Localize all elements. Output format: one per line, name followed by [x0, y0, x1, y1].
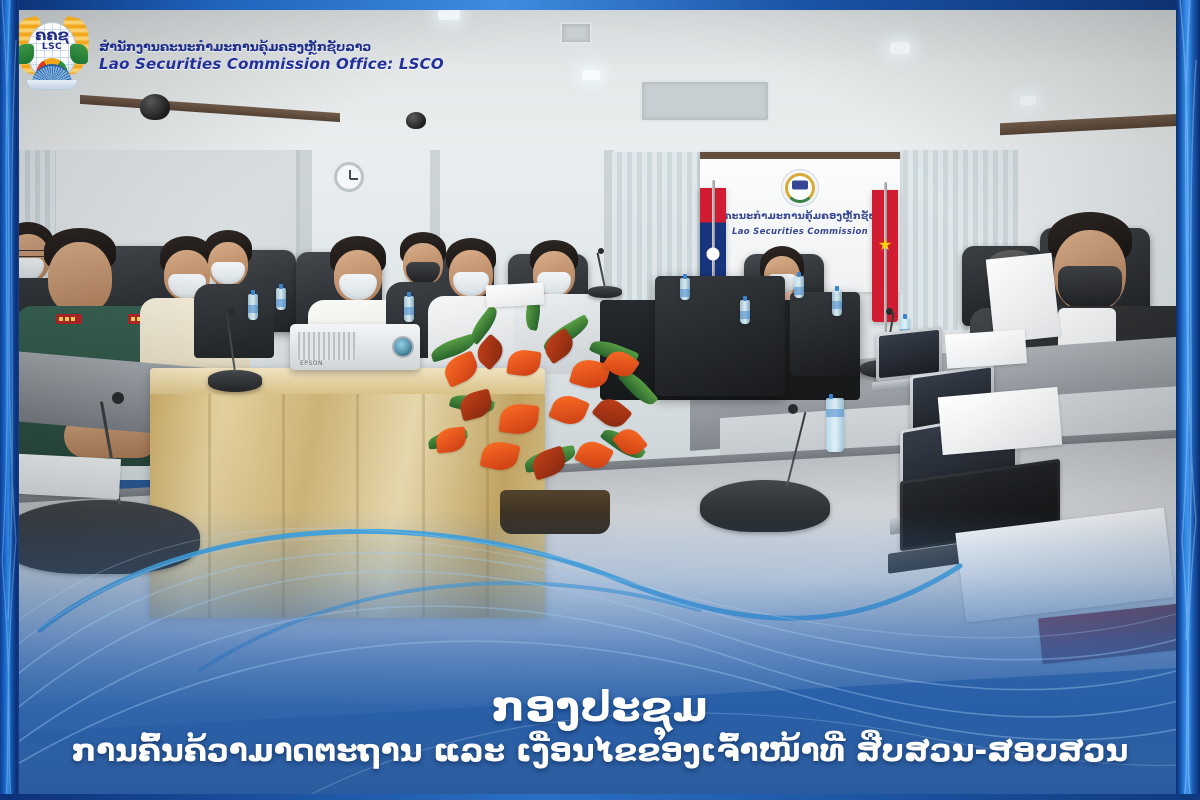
caption-subtitle: ການຄົ້ນຄ້ວາມາດຕະຖານ ແລະ ເງື່ອນໄຂຂອງເຈົ້າ… [0, 733, 1200, 770]
wall-clock-icon [334, 162, 364, 192]
lsc-emblem-logo: ຄຄຊ LSC [14, 14, 90, 90]
water-bottle [680, 278, 690, 300]
rank-insignia [56, 314, 82, 324]
microphone-head [886, 308, 893, 315]
water-bottle [276, 288, 286, 310]
glasses-icon [8, 250, 46, 257]
microphone-head [228, 308, 235, 315]
head [48, 242, 112, 314]
water-bottle [740, 300, 750, 324]
backdrop-lao-title: ຄະນະກຳມະການຄຸ້ມຄອງຫຼັກຊັບ [700, 211, 900, 222]
hammer-sickle-icon: ★ [878, 237, 892, 253]
brand-text-block: ສຳນັກງານຄະນະກຳມະການຄຸ້ມຄອງຫຼັກຊັບລາວ Lao… [99, 31, 444, 73]
face-mask [1058, 266, 1122, 308]
projector: EPSON [290, 324, 420, 370]
logo-abbreviation: LSC [14, 42, 90, 52]
projector-brand-label: EPSON [300, 360, 323, 367]
ceiling-dome-camera-icon [140, 94, 170, 120]
brand-header: ຄຄຊ LSC ສຳນັກງານຄະນະກຳມະການຄຸ້ມຄອງຫຼັກຊັ… [14, 14, 444, 90]
lao-party-flag: ★ [872, 190, 898, 322]
logo-lao-initials: ຄຄຊ [14, 28, 90, 43]
caption-title: ກອງປະຊຸມ [0, 683, 1200, 731]
ceiling-light-icon [890, 42, 910, 54]
water-bottle [794, 276, 804, 298]
bottom-border-bar [0, 794, 1200, 800]
ceiling-dome-camera-icon [406, 112, 426, 129]
backdrop-english-title: Lao Securities Commission [700, 227, 900, 237]
org-name-english: Lao Securities Commission Office: LSCO [99, 55, 444, 73]
flag-moon [707, 248, 720, 261]
microphone-head [598, 248, 604, 254]
water-bottle [248, 294, 258, 320]
commission-emblem-icon [781, 169, 819, 207]
ceiling-light-icon [1020, 96, 1036, 105]
flat-screen-monitor [790, 292, 860, 376]
caption-block: ກອງປະຊຸມ ການຄົ້ນຄ້ວາມາດຕະຖານ ແລະ ເງື່ອນໄ… [0, 683, 1200, 770]
projector-lens-icon [392, 336, 414, 358]
document-paper [485, 282, 544, 307]
ceiling-light-icon [582, 70, 600, 80]
top-border-bar [0, 0, 1200, 10]
projector-grill [298, 332, 356, 360]
torso [194, 284, 274, 358]
ceiling-vent-icon [640, 80, 770, 122]
org-name-lao: ສຳນັກງານຄະນະກຳມະການຄຸ້ມຄອງຫຼັກຊັບລາວ [99, 39, 444, 55]
banner-image: ຄະນະກຳມະການຄຸ້ມຄອງຫຼັກຊັບ Lao Securities… [0, 0, 1200, 800]
logo-base [26, 80, 78, 90]
water-bottle [832, 290, 842, 316]
ceiling-vent-icon [560, 22, 592, 44]
meeting-photo: ຄະນະກຳມະການຄຸ້ມຄອງຫຼັກຊັບ Lao Securities… [0, 0, 1200, 800]
document-paper [945, 329, 1027, 368]
water-bottle [404, 296, 414, 322]
network-cable [0, 380, 1200, 680]
